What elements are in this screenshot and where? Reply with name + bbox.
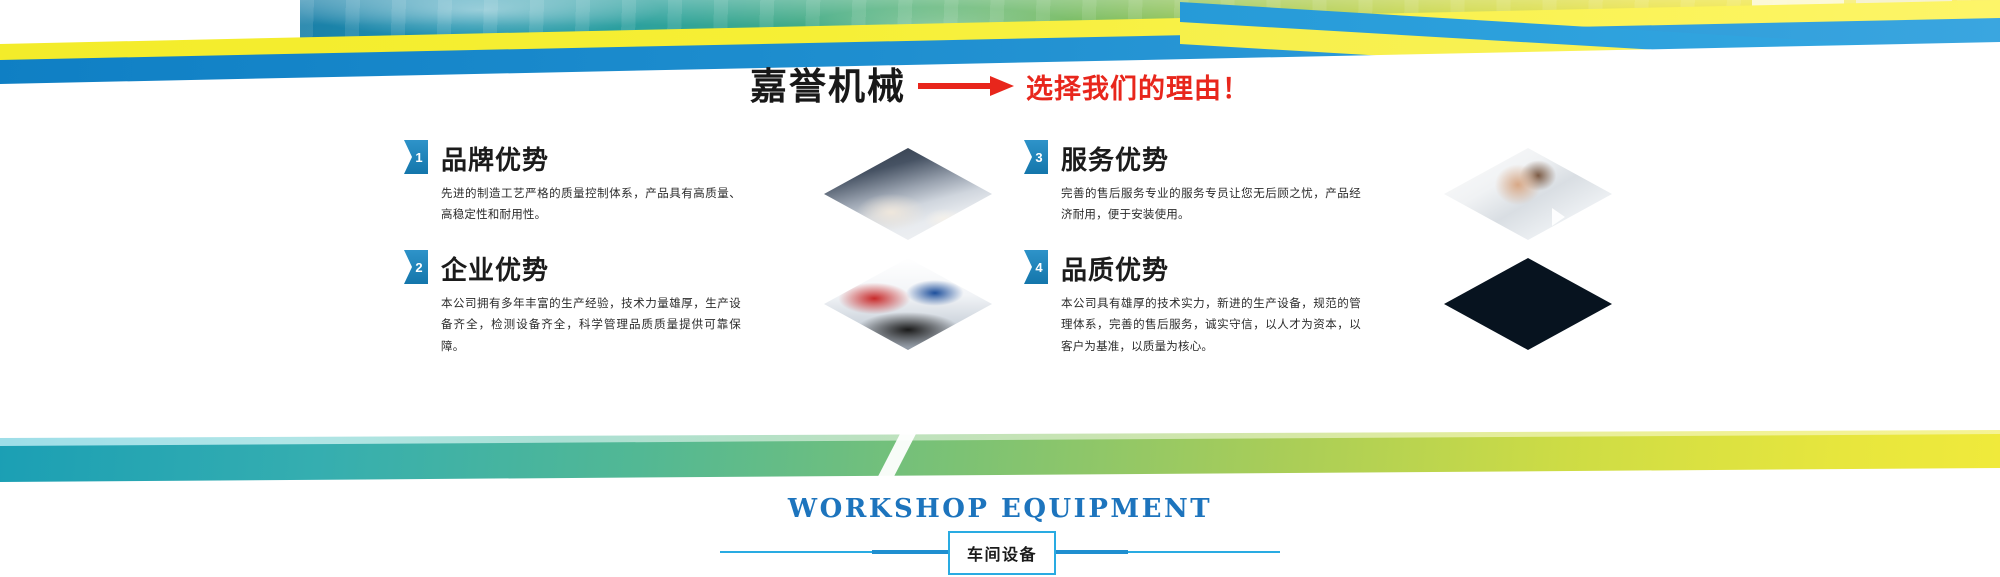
feature-number: 4: [1029, 261, 1042, 274]
feature-grid: 1 品牌优势 先进的制造工艺严格的质量控制体系，产品具有高质量、高稳定性和耐用性…: [404, 140, 1584, 370]
feature-body: 先进的制造工艺严格的质量控制体系，产品具有高质量、高稳定性和耐用性。: [441, 183, 741, 226]
feature-number: 1: [409, 151, 422, 164]
divider-left-thin: [720, 551, 872, 553]
ribbon-badge-icon: 1: [404, 140, 428, 174]
tagline: 选择我们的理由！: [1026, 67, 1250, 106]
footer-chinese-title: 车间设备: [967, 541, 1037, 565]
feature-title: 服务优势: [1061, 148, 1169, 174]
feature-number: 2: [409, 261, 422, 274]
divider-left-thick: [872, 550, 950, 554]
ribbon-badge-icon: 2: [404, 250, 428, 284]
play-arrow-icon: [1552, 208, 1565, 226]
footer-chinese-title-box: 车间设备: [948, 531, 1056, 575]
feature-body: 完善的售后服务专业的服务专员让您无后顾之忧，产品经济耐用，便于安装使用。: [1061, 183, 1361, 226]
divider-right-thick: [1050, 550, 1128, 554]
page-title: 嘉誉机械 选择我们的理由！: [0, 60, 2000, 112]
ribbon-badge-icon: 3: [1024, 140, 1048, 174]
footer-divider: 车间设备: [720, 540, 1280, 564]
feature-body: 本公司具有雄厚的技术实力，新进的生产设备，规范的管理体系，完善的售后服务，诚实守…: [1061, 293, 1361, 357]
divider-right-thin: [1128, 551, 1280, 553]
feature-title: 企业优势: [441, 258, 549, 284]
feature-body: 本公司拥有多年丰富的生产经验，技术力量雄厚，生产设备齐全，检测设备齐全，科学管理…: [441, 293, 741, 357]
bottom-decorative-band: [0, 430, 2000, 488]
feature-title: 品质优势: [1061, 258, 1169, 284]
right-arrow-icon: [918, 76, 1014, 96]
feature-number: 3: [1029, 151, 1042, 164]
footer-section: WORKSHOP EQUIPMENT 车间设备: [0, 492, 2000, 577]
brand-name: 嘉誉机械: [750, 68, 906, 105]
footer-english-title: WORKSHOP EQUIPMENT: [0, 492, 2000, 524]
feature-title: 品牌优势: [441, 148, 549, 174]
ribbon-badge-icon: 4: [1024, 250, 1048, 284]
